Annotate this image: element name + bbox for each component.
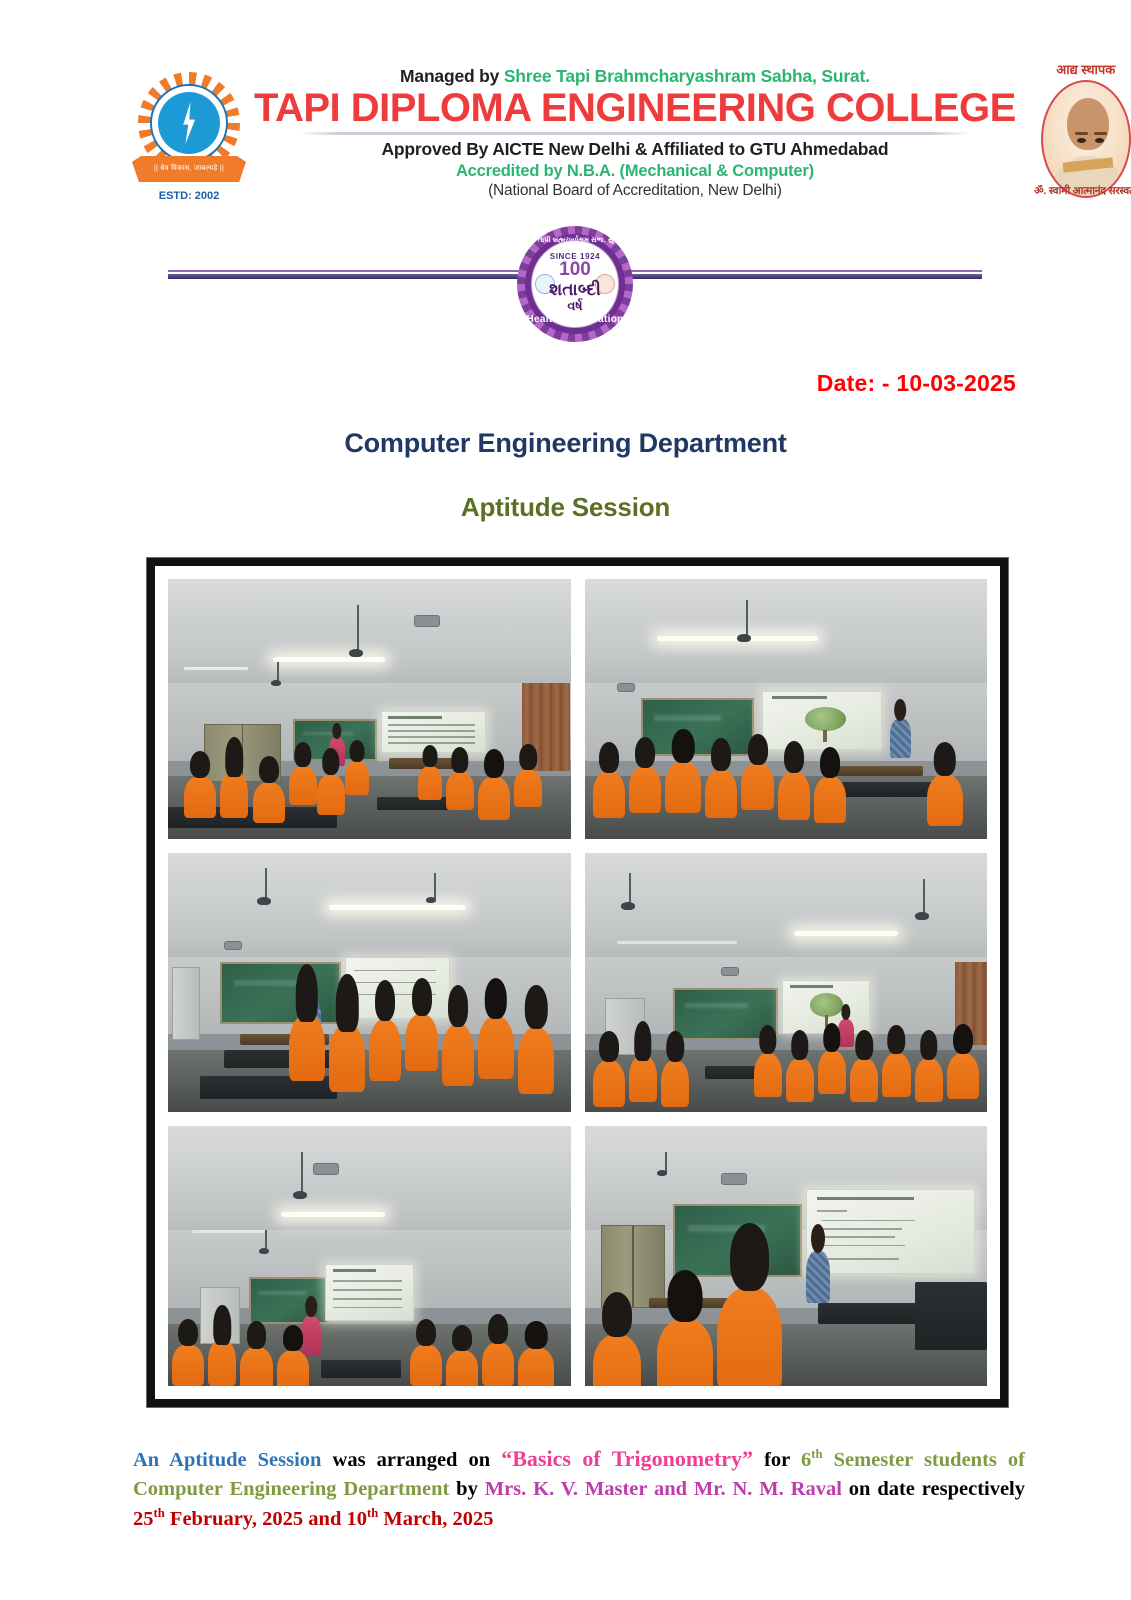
projector-icon — [721, 1173, 747, 1185]
document-date: Date: - 10-03-2025 — [817, 370, 1016, 397]
photo-3 — [168, 853, 571, 1113]
classroom-scene — [585, 1126, 988, 1386]
ceiling-fan-icon-2 — [426, 897, 436, 903]
caption-seg-date1: February, 2025 and — [165, 1508, 347, 1530]
projector-icon — [224, 941, 242, 950]
event-caption: An Aptitude Session was arranged on “Bas… — [133, 1443, 1025, 1534]
tube-light — [329, 905, 466, 910]
founder-portrait-icon — [1041, 80, 1131, 198]
classroom-scene — [168, 853, 571, 1113]
approved-line: Approved By AICTE New Delhi & Affiliated… — [254, 139, 1016, 160]
classroom-scene — [168, 579, 571, 839]
photo-2 — [585, 579, 988, 839]
photo-grid — [168, 579, 987, 1386]
slide-row — [333, 1289, 402, 1291]
projector-icon — [313, 1163, 339, 1175]
student-figure — [661, 1060, 689, 1107]
tube-light-far — [192, 1230, 264, 1233]
photo-4 — [585, 853, 988, 1113]
chalkboard — [641, 698, 754, 755]
topic-row — [822, 1236, 896, 1238]
student-figure — [915, 1058, 943, 1102]
student-figure — [345, 761, 369, 795]
fan-rod-2 — [434, 873, 436, 899]
founder-logo: आद्य स्थापक ॐ. स्वामी आत्मानंद सरस्वती — [1022, 58, 1131, 220]
caption-seg-sem-num: 6 — [801, 1449, 811, 1471]
tube-light-far — [617, 941, 738, 944]
faculty-figure — [890, 719, 910, 758]
slide-row — [388, 724, 474, 726]
student-figure — [446, 1350, 478, 1386]
tree-diagram — [805, 707, 845, 731]
projector-icon — [617, 683, 635, 692]
slide-heading — [817, 1197, 914, 1200]
session-title: Aptitude Session — [0, 492, 1131, 523]
fan-rod — [746, 600, 748, 636]
student-figure — [882, 1053, 910, 1097]
caption-seg-title: An Aptitude Session — [133, 1449, 321, 1471]
student-figure — [410, 1344, 442, 1386]
logo-motto-ribbon: || बेव विकास, जाबल्यहे || — [132, 156, 246, 182]
door — [172, 967, 200, 1040]
letterhead-text: Managed by Shree Tapi Brahmcharyashram S… — [248, 58, 1022, 200]
ceiling-fan-icon — [737, 634, 751, 642]
caption-seg-date2-num: 10 — [346, 1508, 367, 1530]
faculty-figure — [806, 1251, 830, 1303]
student-figure — [657, 1318, 713, 1386]
slide-row — [333, 1280, 402, 1282]
slide-heading — [772, 696, 827, 699]
seal-varsh-label: વર્ષ — [531, 298, 619, 314]
slide-row — [333, 1298, 402, 1300]
student-figure — [442, 1024, 474, 1086]
tube-light — [273, 657, 386, 662]
projector-icon — [721, 967, 739, 976]
student-figure — [814, 776, 846, 823]
classroom-scene — [585, 579, 988, 839]
founder-brow-right — [1094, 132, 1107, 135]
student-figure — [593, 1060, 625, 1107]
student-figure — [947, 1053, 979, 1100]
student-figure — [478, 776, 510, 820]
tube-light — [281, 1212, 386, 1217]
student-figure — [478, 1016, 514, 1078]
classroom-scene — [168, 1126, 571, 1386]
student-figure — [629, 766, 661, 813]
founder-brow-left — [1075, 132, 1088, 135]
topic-row — [822, 1228, 902, 1230]
student-figure — [446, 771, 474, 810]
ceiling-fan-icon-2 — [915, 912, 929, 920]
faculty-figure — [301, 1316, 321, 1355]
centenary-seal-icon: શ્રી તાપી બ્રહ્મચર્યાશ્રમ સભા, સુરત SINC… — [507, 226, 643, 358]
founder-eye-right — [1095, 138, 1104, 143]
caption-seg-9: on date respectively — [842, 1478, 1025, 1500]
desk — [834, 766, 923, 776]
student-figure — [593, 1334, 641, 1386]
caption-seg-date2: March, 2025 — [378, 1508, 493, 1530]
tree-diagram — [810, 993, 843, 1016]
student-figure — [184, 776, 216, 818]
founder-eye-left — [1077, 138, 1086, 143]
student-figure — [514, 769, 542, 808]
tree-trunk — [823, 730, 827, 743]
nba-fullform-line: (National Board of Accreditation, New De… — [254, 182, 1016, 200]
caption-seg-date1-num: 25 — [133, 1508, 154, 1530]
tube-light-far — [184, 667, 248, 670]
projector-icon — [414, 615, 440, 627]
ceiling — [168, 1126, 571, 1240]
slide-heading — [388, 716, 441, 719]
faculty-figure — [838, 1019, 854, 1048]
student-figure — [405, 1014, 437, 1071]
caption-seg-4: for — [753, 1449, 801, 1471]
slide-row — [388, 736, 474, 738]
topics-label-row — [817, 1210, 847, 1212]
student-figure — [665, 761, 701, 813]
managed-by-line: Managed by Shree Tapi Brahmcharyashram S… — [254, 66, 1016, 87]
college-name: TAPI DIPLOMA ENGINEERING COLLEGE — [254, 88, 1016, 130]
ceiling — [168, 579, 571, 693]
student-figure — [850, 1058, 878, 1102]
fan-rod — [301, 1152, 303, 1194]
ceiling-fan-icon — [257, 897, 271, 905]
topic-row — [822, 1245, 906, 1247]
seal-bottom-label: Health & Education — [517, 314, 633, 325]
managed-by-prefix: Managed by — [400, 66, 504, 86]
logo-estd-label: ESTD: 2002 — [130, 190, 248, 202]
caption-seg-date1-sup: th — [154, 1506, 165, 1520]
ceiling-fan-icon — [349, 649, 363, 657]
seal-gujarati-label: શતાબ્દી — [531, 280, 619, 299]
student-figure — [220, 771, 248, 818]
letterhead-rule — [300, 132, 970, 135]
slide-row — [354, 970, 436, 972]
student-figure — [593, 771, 625, 818]
fan-rod-2 — [923, 879, 925, 915]
ceiling-fan-icon — [293, 1191, 307, 1199]
centenary-band: શ્રી તાપી બ્રહ્મચર્યાશ્રમ સભા, સુરત SINC… — [130, 226, 1020, 358]
accredited-line: Accredited by N.B.A. (Mechanical & Compu… — [254, 162, 1016, 181]
student-figure — [317, 774, 345, 816]
ceiling-fan-icon — [621, 902, 635, 910]
fan-rod — [629, 873, 631, 904]
student-figure — [253, 782, 285, 824]
student-figure — [418, 766, 442, 800]
document-page: || बेव विकास, जाबल्यहे || ESTD: 2002 Man… — [0, 0, 1131, 1600]
caption-seg-by: by — [449, 1478, 484, 1500]
photo-collage-frame — [147, 558, 1008, 1407]
student-figure — [518, 1347, 554, 1386]
student-figure — [629, 1055, 657, 1102]
photo-1 — [168, 579, 571, 839]
founder-title: आद्य स्थापक — [1022, 60, 1131, 78]
letterhead-top-row: || बेव विकास, जाबल्यहे || ESTD: 2002 Man… — [130, 58, 1020, 226]
student-figure — [289, 766, 317, 805]
chalkboard — [249, 1277, 330, 1324]
projection-screen — [325, 1264, 414, 1321]
caption-seg-sem-sup: th — [811, 1447, 822, 1461]
student-figure — [818, 1050, 846, 1094]
department-title: Computer Engineering Department — [0, 428, 1131, 459]
managed-by-org: Shree Tapi Brahmcharyashram Sabha, Surat… — [504, 66, 870, 86]
student-figure — [289, 1014, 325, 1082]
ceiling-fan-icon-2 — [271, 680, 281, 686]
slide-row — [388, 742, 474, 744]
student-figure — [240, 1347, 272, 1386]
college-logo: || बेव विकास, जाबल्यहे || ESTD: 2002 — [130, 58, 248, 218]
student-figure — [208, 1339, 236, 1386]
bench — [321, 1360, 402, 1378]
student-figure — [927, 774, 963, 826]
student-figure — [277, 1350, 309, 1386]
fan-rod — [265, 868, 267, 899]
student-figure — [786, 1058, 814, 1102]
fan-rod — [357, 605, 359, 652]
caption-seg-date2-sup: th — [367, 1506, 378, 1520]
projection-screen — [806, 1189, 975, 1275]
student-figure — [482, 1342, 514, 1386]
classroom-scene — [585, 853, 988, 1113]
chalkboard — [220, 962, 341, 1024]
photo-5 — [168, 1126, 571, 1386]
student-figure — [717, 1287, 781, 1386]
slide-heading — [790, 985, 833, 988]
projection-screen — [762, 691, 883, 751]
topic-row — [822, 1220, 916, 1222]
founder-name: ॐ. स्वामी आत्मानंद सरस्वती — [1022, 184, 1131, 198]
slide-heading — [333, 1269, 376, 1272]
student-figure — [518, 1027, 554, 1095]
caption-seg-faculty: Mrs. K. V. Master and Mr. N. M. Raval — [485, 1478, 842, 1500]
projection-screen — [345, 957, 450, 1019]
ceiling-fan-icon-2 — [259, 1248, 269, 1254]
bench-side — [915, 1282, 987, 1350]
letterhead: || बेव विकास, जाबल्यहे || ESTD: 2002 Man… — [130, 58, 1020, 358]
tube-light — [794, 931, 899, 936]
ceiling — [585, 853, 988, 967]
caption-seg-topic: “Basics of Trigonometry” — [501, 1446, 753, 1471]
student-figure — [172, 1344, 204, 1386]
student-figure — [778, 771, 810, 820]
student-figure — [754, 1053, 782, 1097]
slide-row — [333, 1307, 402, 1309]
topic-row — [822, 1258, 899, 1260]
student-figure — [705, 769, 737, 818]
slide-row — [388, 730, 474, 732]
student-figure — [369, 1019, 401, 1081]
photo-6 — [585, 1126, 988, 1386]
caption-seg-2: was arranged on — [321, 1449, 501, 1471]
student-figure — [329, 1024, 365, 1092]
student-figure — [741, 763, 773, 810]
